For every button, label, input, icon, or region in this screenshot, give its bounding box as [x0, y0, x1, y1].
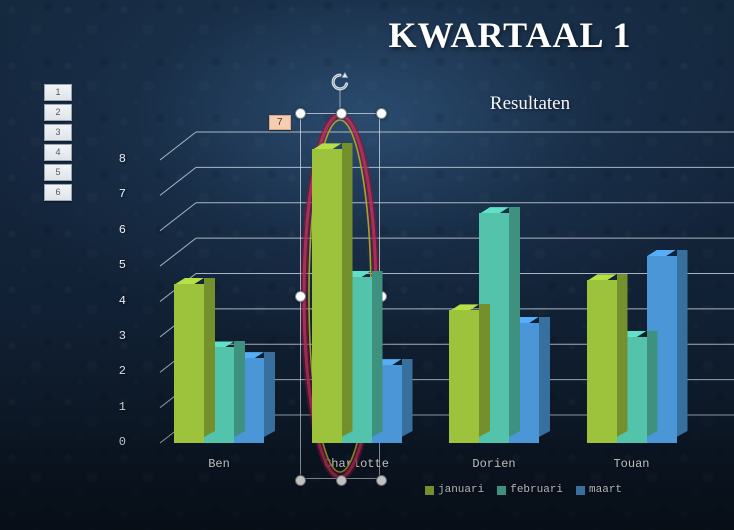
- legend-label-januari: januari: [438, 484, 484, 496]
- slide-thumbnail-2[interactable]: 2: [44, 104, 72, 121]
- x-axis-label-ben: Ben: [174, 457, 264, 471]
- y-axis-tick-5: 5: [110, 258, 126, 272]
- bar-ben-januari[interactable]: [174, 284, 204, 443]
- legend-swatch-januari: [425, 486, 434, 495]
- slide-thumbnail-strip[interactable]: 1 2 3 4 5 6: [44, 84, 72, 204]
- rotate-icon[interactable]: [329, 71, 351, 93]
- rotate-handle-line: [340, 89, 341, 113]
- presentation-slide: KWARTAAL 1 Resultaten 1 2 3 4 5 6 012345…: [0, 0, 734, 530]
- legend-item-februari[interactable]: februari: [497, 484, 563, 496]
- slide-title: KWARTAAL 1: [330, 14, 690, 56]
- legend-item-januari[interactable]: januari: [425, 484, 484, 496]
- chart-title: Resultaten: [400, 93, 660, 115]
- chart-legend[interactable]: januarifebruarimaart: [425, 484, 622, 496]
- x-axis-label-charlotte: Charlotte: [312, 457, 402, 471]
- bar-dorien-januari[interactable]: [449, 310, 479, 443]
- legend-swatch-februari: [497, 486, 506, 495]
- slide-thumbnail-3[interactable]: 3: [44, 124, 72, 141]
- legend-label-maart: maart: [589, 484, 622, 496]
- bar-charlotte-januari[interactable]: [312, 149, 342, 443]
- x-axis-label-touan: Touan: [587, 457, 677, 471]
- slide-thumbnail-1[interactable]: 1: [44, 84, 72, 101]
- slide-thumbnail-6[interactable]: 6: [44, 184, 72, 201]
- slide-thumbnail-5[interactable]: 5: [44, 164, 72, 181]
- legend-label-februari: februari: [510, 484, 563, 496]
- legend-item-maart[interactable]: maart: [576, 484, 622, 496]
- y-axis-tick-2: 2: [110, 364, 126, 378]
- y-axis-tick-8: 8: [110, 152, 126, 166]
- y-axis-tick-0: 0: [110, 435, 126, 449]
- y-axis-tick-1: 1: [110, 400, 126, 414]
- bar-chart[interactable]: 012345678 BenCharlotteDorienTouan: [96, 118, 734, 478]
- bar-touan-januari[interactable]: [587, 280, 617, 443]
- legend-swatch-maart: [576, 486, 585, 495]
- y-axis-tick-4: 4: [110, 294, 126, 308]
- y-axis-tick-7: 7: [110, 187, 126, 201]
- y-axis-tick-6: 6: [110, 223, 126, 237]
- slide-thumbnail-4[interactable]: 4: [44, 144, 72, 161]
- x-axis-label-dorien: Dorien: [449, 457, 539, 471]
- y-axis-tick-3: 3: [110, 329, 126, 343]
